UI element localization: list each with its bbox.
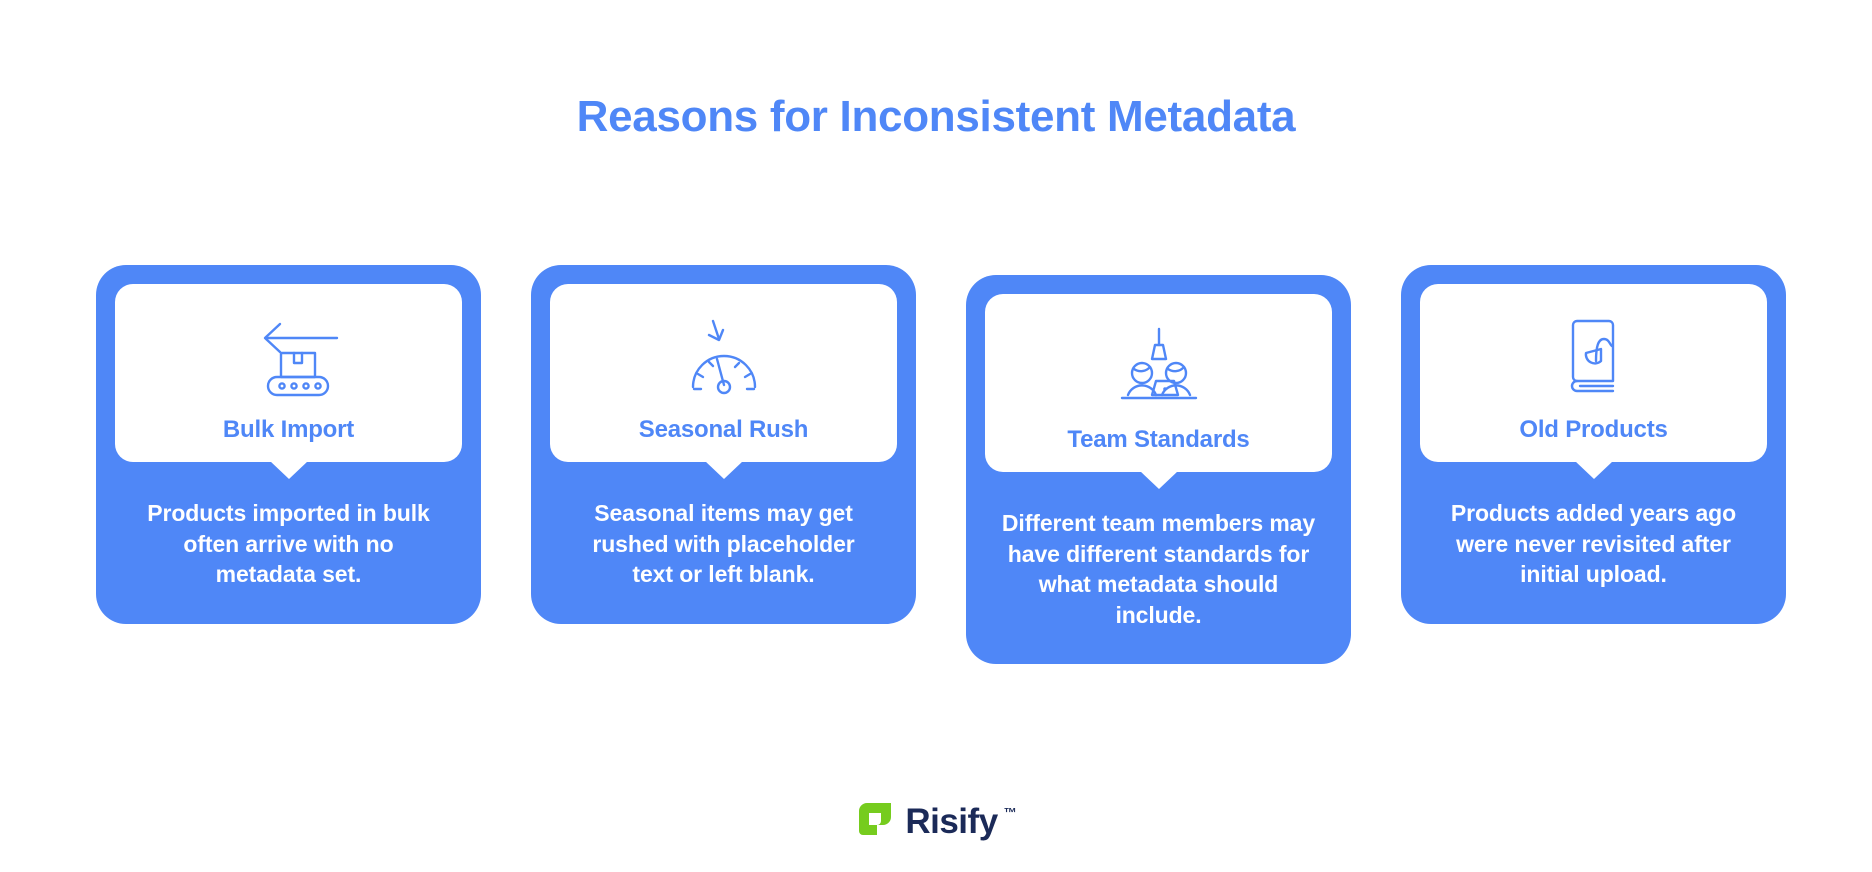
card-panel: Old Products <box>1420 284 1767 462</box>
cards-row: Bulk Import Products imported in bulk of… <box>96 265 1786 664</box>
speedometer-rush-icon <box>669 310 779 402</box>
card-body: Products added years ago were never revi… <box>1420 498 1767 624</box>
card-title: Seasonal Rush <box>639 416 808 444</box>
old-book-icon <box>1539 310 1649 402</box>
card-title: Team Standards <box>1067 426 1249 454</box>
team-desk-icon <box>1104 320 1214 412</box>
card-body: Seasonal items may get rushed with place… <box>550 498 897 624</box>
card-team-standards: Team Standards Different team members ma… <box>966 275 1351 664</box>
card-title: Old Products <box>1519 416 1667 444</box>
card-seasonal-rush: Seasonal Rush Seasonal items may get rus… <box>531 265 916 624</box>
logo-wordmark: Risify <box>905 804 997 839</box>
footer-logo: Risify ™ <box>0 799 1872 844</box>
card-body: Products imported in bulk often arrive w… <box>115 498 462 624</box>
conveyor-belt-import-icon <box>234 310 344 402</box>
card-panel: Bulk Import <box>115 284 462 462</box>
card-bulk-import: Bulk Import Products imported in bulk of… <box>96 265 481 624</box>
card-body: Different team members may have differen… <box>985 508 1332 664</box>
card-panel: Team Standards <box>985 294 1332 472</box>
risify-logo-mark-icon <box>855 799 895 844</box>
page-title: Reasons for Inconsistent Metadata <box>0 92 1872 142</box>
card-panel: Seasonal Rush <box>550 284 897 462</box>
trademark-symbol: ™ <box>1004 805 1017 820</box>
card-title: Bulk Import <box>223 416 354 444</box>
card-old-products: Old Products Products added years ago we… <box>1401 265 1786 624</box>
infographic-page: Reasons for Inconsistent Metadata <box>0 0 1872 872</box>
